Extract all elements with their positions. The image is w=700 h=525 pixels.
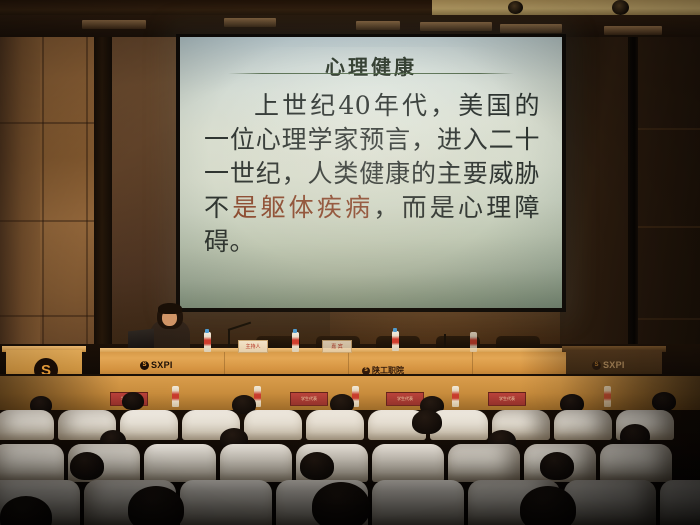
projection-screen: 心理健康 上世纪40年代，美国的一位心理学家预言，进入二十一世纪，人类健康的主要… [180, 37, 562, 308]
bottle-cap [205, 329, 209, 333]
water-bottle [292, 332, 299, 352]
audience-seat [448, 444, 520, 482]
audience-seat [660, 480, 700, 525]
audience-head [312, 482, 370, 525]
name-placard: 主持人 [238, 340, 268, 353]
water-bottle [392, 331, 399, 351]
bottle-cap [293, 329, 297, 333]
table-logo-left-text: SXPI [151, 360, 173, 370]
name-placard: 嘉 宾 [322, 340, 352, 353]
dark-pillar-left [94, 14, 112, 372]
ceiling-light-strip [82, 20, 146, 29]
audience-head [412, 410, 442, 434]
audience-head [652, 392, 676, 411]
wall-seam [42, 16, 44, 372]
wall-seam [630, 128, 700, 130]
audience-head [128, 486, 184, 525]
dark-pillar-right [630, 14, 638, 360]
table-skirt-logo-left: S SXPI [140, 360, 173, 370]
table-logo-right-text: SXPI [603, 360, 625, 370]
ceiling-lamp-icon [612, 0, 629, 15]
auditorium-scene: 心理健康 上世纪40年代，美国的一位心理学家预言，进入二十一世纪，人类健康的主要… [0, 0, 700, 525]
wall-seam [630, 318, 700, 320]
front-row-placard-text: 学生代表 [499, 396, 515, 402]
audience-seat [600, 444, 672, 482]
audience-seat [306, 410, 364, 440]
audience-seat [144, 444, 216, 482]
audience-head [300, 452, 334, 480]
audience-head [520, 486, 576, 525]
sxpi-logo-mark-icon: S [592, 361, 601, 370]
ceiling-light-strip [356, 21, 400, 30]
ceiling-light-strip [604, 26, 662, 35]
front-row-placard-text: 学生代表 [301, 396, 317, 402]
front-row-placard: 学生代表 [488, 392, 526, 406]
audience-seat [372, 444, 444, 482]
ceiling-light-strip [224, 18, 276, 27]
ceiling-light-strip [420, 22, 492, 31]
front-row-placard: 学生代表 [290, 392, 328, 406]
audience-seat [0, 410, 54, 440]
audience-seat [244, 410, 302, 440]
water-bottle [604, 386, 611, 407]
water-bottle [452, 386, 459, 407]
screen-vignette [180, 37, 562, 308]
presenter-hair-front [158, 303, 182, 314]
audience-head [70, 452, 104, 480]
audience-seat [220, 444, 292, 482]
sxpi-logo-mark-icon: S [140, 361, 149, 370]
wall-seam [86, 16, 88, 372]
table-skirt-logo-right: S SXPI [592, 360, 625, 370]
audience-seat [180, 480, 272, 525]
left-wall-panel-edge [0, 14, 40, 372]
audience-head [122, 392, 144, 410]
wall-seam [630, 226, 700, 228]
water-bottle [204, 332, 211, 352]
bottle-cap [393, 328, 397, 332]
audience-seat [564, 480, 656, 525]
audience-seat [120, 410, 178, 440]
audience-seat [372, 480, 464, 525]
name-placard-text: 主持人 [245, 343, 260, 350]
front-row-placard-text: 学生代表 [397, 396, 413, 402]
name-placard-text: 嘉 宾 [331, 343, 343, 350]
ceiling-lamp-icon [508, 1, 523, 14]
audience-seat [0, 444, 64, 482]
water-bottle [470, 332, 477, 352]
water-bottle [172, 386, 179, 407]
audience-seat [554, 410, 612, 440]
ceiling-light-strip [500, 24, 562, 33]
front-row-placard: 学生代表 [386, 392, 424, 406]
audience-head [540, 452, 574, 480]
front-row-table-shade [0, 376, 120, 410]
